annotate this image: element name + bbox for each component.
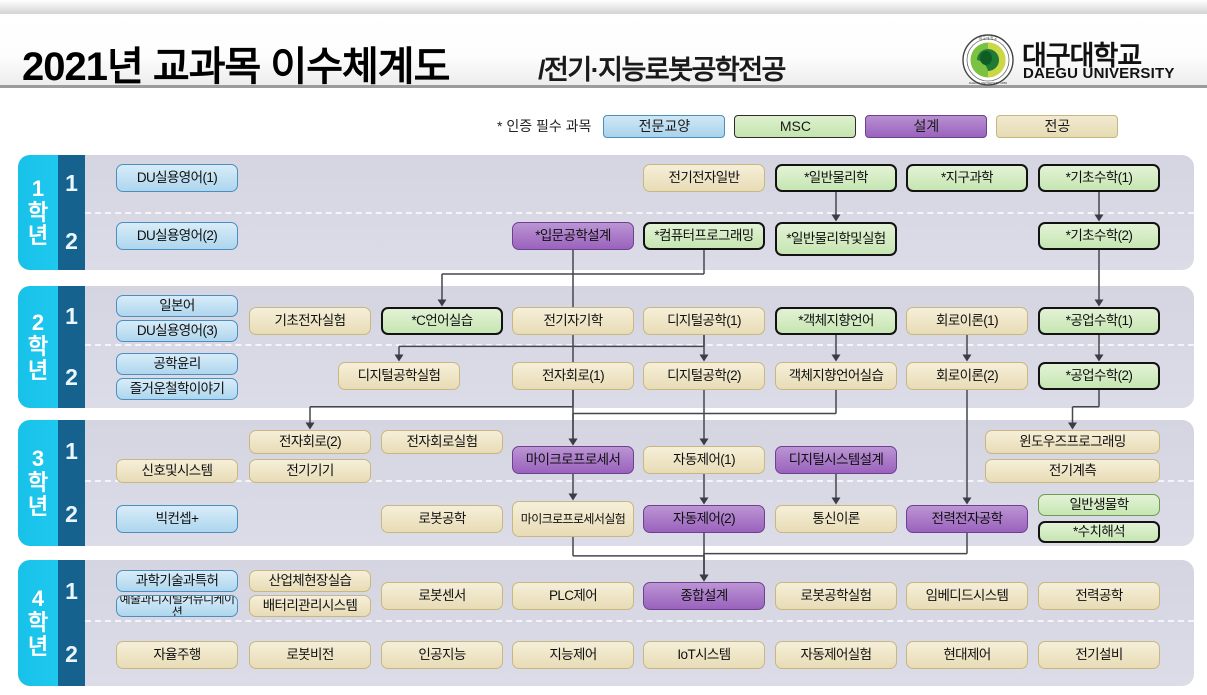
semester-number-1: 1: [58, 286, 85, 347]
course-label-line: 윈도우즈프로그래밍: [1019, 435, 1125, 449]
course-box-winprog[interactable]: 윈도우즈프로그래밍: [985, 430, 1160, 454]
course-box-clang[interactable]: *C언어실습: [381, 307, 503, 335]
course-label-line: *기초수학(2): [1066, 229, 1133, 243]
year-label-1: 1학년: [18, 155, 58, 270]
course-label-line: *일반물리학: [804, 171, 868, 185]
legend-note: * 인증 필수 과목: [497, 116, 591, 136]
course-box-cprog[interactable]: *컴퓨터프로그래밍: [643, 222, 765, 250]
course-box-auto2[interactable]: 자동제어(2): [643, 505, 765, 533]
course-box-battery[interactable]: 배터리관리시스템: [249, 595, 371, 617]
course-box-introdes[interactable]: *입문공학설계: [512, 222, 634, 250]
course-label-line: 디지털공학(2): [667, 369, 741, 383]
semester-column-1: 12: [58, 155, 85, 270]
page-subtitle: /전기·지능로봇공학전공: [538, 48, 785, 87]
course-box-diglab[interactable]: 디지털공학실험: [338, 362, 460, 390]
legend-item-msc: MSC: [734, 115, 856, 138]
year-label-char: 1: [32, 177, 44, 201]
course-box-auto1[interactable]: 자동제어(1): [643, 446, 765, 474]
course-label-line: *공업수학(2): [1066, 369, 1133, 383]
course-box-ai[interactable]: 인공지능: [381, 641, 503, 669]
course-box-comm[interactable]: 통신이론: [775, 505, 897, 533]
course-box-intctrl[interactable]: 지능제어: [512, 641, 634, 669]
course-box-cir1[interactable]: 회로이론(1): [906, 307, 1028, 335]
course-box-japan[interactable]: 일본어: [116, 295, 238, 317]
course-label-line: 현대제어: [943, 648, 990, 662]
year-body-2: [85, 286, 1194, 408]
year-label-char: 학: [28, 335, 48, 359]
course-label-line: 전기자기학: [543, 314, 602, 328]
semester-number-1: 1: [58, 560, 85, 623]
university-logo: 대 구 대 학 교 DAEGU UNIVERSITY 1956 대구대학교 DA…: [962, 34, 1194, 88]
semester-number-2: 2: [58, 213, 85, 271]
course-box-artcomm[interactable]: 예술과디지털커뮤니케이션: [116, 595, 238, 617]
course-label-line: *객체지향언어: [798, 314, 874, 328]
course-label-line: 자율주행: [153, 648, 200, 662]
course-box-selfdriv[interactable]: 자율주행: [116, 641, 238, 669]
year-label-3: 3학년: [18, 420, 58, 546]
semester-number-2: 2: [58, 483, 85, 546]
course-box-capstone[interactable]: 종합설계: [643, 582, 765, 610]
course-box-plc[interactable]: PLC제어: [512, 582, 634, 610]
course-label-line: 디지털공학실험: [358, 369, 441, 383]
course-box-digsys[interactable]: 디지털시스템설계: [775, 446, 897, 474]
page-header: 2021년 교과목 이수체계도 /전기·지능로봇공학전공 대 구 대 학 교 D…: [0, 14, 1207, 88]
course-box-phys1[interactable]: *일반물리학: [775, 164, 897, 192]
course-box-ecir2[interactable]: 전자회로(2): [249, 430, 371, 454]
course-label-line: 전력전자공학: [932, 512, 1003, 526]
year-label-char: 년: [28, 359, 48, 383]
course-label-line: *컴퓨터프로그래밍: [654, 229, 753, 243]
course-box-dig1[interactable]: 디지털공학(1): [643, 307, 765, 335]
course-box-philo[interactable]: 즐거운철학이야기: [116, 378, 238, 400]
course-box-emag[interactable]: 전기자기학: [512, 307, 634, 335]
course-box-beslab[interactable]: 기초전자실험: [249, 307, 371, 335]
course-box-power[interactable]: 전력전자공학: [906, 505, 1028, 533]
svg-text:대 구 대 학 교: 대 구 대 학 교: [979, 36, 997, 41]
year-label-char: 년: [28, 635, 48, 659]
course-box-patent[interactable]: 과학기술과특허: [116, 570, 238, 592]
course-box-ooplab[interactable]: 객체지향언어실습: [775, 362, 897, 390]
course-box-du1[interactable]: DU실용영어(1): [116, 164, 238, 192]
course-label-line: *기초수학(1): [1066, 171, 1133, 185]
year-label-char: 3: [32, 447, 44, 471]
course-label-line: 인공지능: [418, 648, 465, 662]
course-box-bigconc[interactable]: 빅컨셉+: [116, 505, 238, 533]
course-label-line: 지능제어: [549, 648, 596, 662]
course-label-line: 빅컨셉+: [156, 512, 199, 526]
course-label-line: 디지털공학(1): [667, 314, 741, 328]
semester-column-2: 12: [58, 286, 85, 408]
course-box-emath1[interactable]: *공업수학(1): [1038, 307, 1160, 335]
course-label-line: 신호및시스템: [142, 464, 213, 478]
page-title: 2021년 교과목 이수체계도: [22, 34, 449, 92]
course-label-line: 로봇센서: [418, 589, 465, 603]
course-label-line: 자동제어실험: [801, 648, 872, 662]
course-box-du3[interactable]: DU실용영어(3): [116, 320, 238, 342]
course-box-math2[interactable]: *기초수학(2): [1038, 222, 1160, 250]
course-box-signal[interactable]: 신호및시스템: [116, 459, 238, 483]
course-label-line: 전기전자일반: [669, 171, 740, 185]
course-label-line: 로봇비전: [286, 648, 333, 662]
semester-number-1: 1: [58, 155, 85, 213]
course-box-intern[interactable]: 산업체현장실습: [249, 570, 371, 592]
course-box-jeongi[interactable]: 전기전자일반: [643, 164, 765, 192]
year-label-2: 2학년: [18, 286, 58, 408]
course-box-ecir1[interactable]: 전자회로(1): [512, 362, 634, 390]
course-box-ethics[interactable]: 공학윤리: [116, 353, 238, 375]
legend: * 인증 필수 과목 전문교양 MSC 설계 전공: [497, 114, 1118, 138]
course-box-numer[interactable]: *수치해석: [1038, 521, 1160, 543]
semester-divider: [85, 212, 1194, 214]
course-label-line: 종합설계: [680, 589, 727, 603]
course-box-earth[interactable]: *지구과학: [906, 164, 1028, 192]
legend-item-design: 설계: [865, 115, 987, 138]
course-box-oop[interactable]: *객체지향언어: [775, 307, 897, 335]
course-label-line: 실험: [604, 513, 625, 526]
course-label-line: *입문공학설계: [535, 229, 611, 243]
course-label-line: *일반물리학및실험: [786, 232, 885, 246]
course-label-line: 로봇공학실험: [801, 589, 872, 603]
course-label-line: 예술과디지털커뮤니케이션: [119, 595, 235, 617]
course-label-line: 산업체현장실습: [269, 574, 352, 588]
course-label-line: 기초전자실험: [275, 314, 346, 328]
course-box-rsensor[interactable]: 로봇센서: [381, 582, 503, 610]
course-label-line: *수치해석: [1073, 525, 1125, 539]
course-box-ecirlab[interactable]: 전자회로실험: [381, 430, 503, 454]
course-label-line: 전기설비: [1075, 648, 1122, 662]
semester-column-4: 12: [58, 560, 85, 686]
course-label-line: 과학기술과특허: [136, 574, 219, 588]
course-box-emeas[interactable]: 전기계측: [985, 459, 1160, 483]
course-box-microlab[interactable]: 마이크로프로세서실험: [512, 501, 634, 537]
year-label-char: 년: [28, 224, 48, 248]
course-label-line: 공학윤리: [153, 357, 200, 371]
course-box-math1[interactable]: *기초수학(1): [1038, 164, 1160, 192]
course-box-physlab[interactable]: *일반물리학및실험: [775, 222, 897, 256]
course-box-embed[interactable]: 임베디드시스템: [906, 582, 1028, 610]
daegu-university-emblem-icon: 대 구 대 학 교 DAEGU UNIVERSITY 1956: [962, 34, 1014, 86]
course-label-line: IoT시스템: [677, 648, 730, 662]
course-label-line: 일반생물학: [1069, 498, 1128, 512]
year-label-char: 학: [28, 201, 48, 225]
course-label-line: 자동제어(2): [673, 512, 735, 526]
course-box-du2[interactable]: DU실용영어(2): [116, 222, 238, 250]
course-label-line: 전자회로실험: [407, 435, 478, 449]
course-label-line: DU실용영어(1): [137, 171, 217, 185]
course-label-line: 객체지향언어실습: [789, 369, 884, 383]
course-box-robot[interactable]: 로봇공학: [381, 505, 503, 533]
course-label-line: *C언어실습: [411, 314, 472, 328]
semester-column-3: 12: [58, 420, 85, 546]
course-label-line: 배터리관리시스템: [263, 599, 358, 613]
course-label-line: 자동제어(1): [673, 453, 735, 467]
semester-divider: [85, 344, 1194, 346]
course-label-line: 전기기기: [286, 464, 333, 478]
course-label-line: PLC제어: [549, 589, 597, 603]
course-label-line: 회로이론(2): [936, 369, 998, 383]
year-label-char: 년: [28, 495, 48, 519]
semester-number-2: 2: [58, 347, 85, 408]
course-box-rvision[interactable]: 로봇비전: [249, 641, 371, 669]
year-label-4: 4학년: [18, 560, 58, 686]
semester-number-2: 2: [58, 623, 85, 686]
year-label-char: 2: [32, 311, 44, 335]
course-label-line: *공업수학(1): [1066, 314, 1133, 328]
course-label-line: 통신이론: [812, 512, 859, 526]
semester-divider: [85, 620, 1194, 622]
course-box-emach[interactable]: 전기기기: [249, 459, 371, 483]
legend-item-general: 전문교양: [603, 115, 725, 138]
course-box-dig2[interactable]: 디지털공학(2): [643, 362, 765, 390]
course-label-line: 일본어: [159, 299, 194, 313]
course-box-cir2[interactable]: 회로이론(2): [906, 362, 1028, 390]
course-label-line: 전력공학: [1075, 589, 1122, 603]
year-label-char: 학: [28, 611, 48, 635]
course-label-line: 회로이론(1): [936, 314, 998, 328]
course-box-emath2[interactable]: *공업수학(2): [1038, 362, 1160, 390]
course-box-iot[interactable]: IoT시스템: [643, 641, 765, 669]
course-box-autolab[interactable]: 자동제어실험: [775, 641, 897, 669]
course-box-micro[interactable]: 마이크로프로세서: [512, 446, 634, 474]
course-box-efac[interactable]: 전기설비: [1038, 641, 1160, 669]
semester-number-1: 1: [58, 420, 85, 483]
course-box-robotlab[interactable]: 로봇공학실험: [775, 582, 897, 610]
course-label-line: *지구과학: [941, 171, 993, 185]
course-label-line: DU실용영어(3): [137, 324, 217, 338]
course-box-modern[interactable]: 현대제어: [906, 641, 1028, 669]
course-label-line: 전기계측: [1049, 464, 1096, 478]
logo-text-english: DAEGU UNIVERSITY: [1023, 65, 1175, 82]
svg-text:DAEGU UNIVERSITY 1956: DAEGU UNIVERSITY 1956: [969, 81, 1007, 85]
course-box-bio[interactable]: 일반생물학: [1038, 494, 1160, 516]
course-label-line: 디지털시스템설계: [789, 453, 884, 467]
legend-item-major: 전공: [996, 115, 1118, 138]
course-label-line: 로봇공학: [418, 512, 465, 526]
course-label-line: 전자회로(2): [279, 435, 341, 449]
course-label-line: 임베디드시스템: [926, 589, 1009, 603]
course-label-line: 즐거운철학이야기: [130, 382, 225, 396]
course-label-line: 마이크로프로세서: [526, 453, 621, 467]
year-label-char: 4: [32, 587, 44, 611]
year-label-char: 학: [28, 471, 48, 495]
course-label-line: DU실용영어(2): [137, 229, 217, 243]
course-label-line: 전자회로(1): [542, 369, 604, 383]
course-box-powereng[interactable]: 전력공학: [1038, 582, 1160, 610]
curriculum-roadmap: 2021년 교과목 이수체계도 /전기·지능로봇공학전공 대 구 대 학 교 D…: [0, 0, 1207, 695]
course-label-line: 마이크로프로세서: [521, 513, 605, 526]
